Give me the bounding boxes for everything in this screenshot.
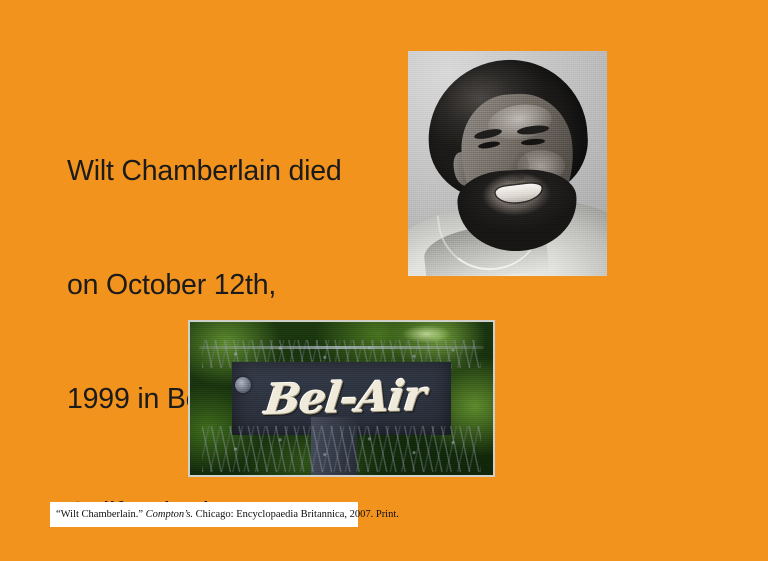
slide-canvas: Wilt Chamberlain died on October 12th, 1… [0,0,768,561]
belair-sign-image: Bel-Air [188,320,495,477]
body-text-line-1: Wilt Chamberlain died [67,152,387,190]
citation-source-italic: Compton’s. [146,509,193,520]
citation-title: “Wilt Chamberlain.” [56,509,143,520]
slide-body-text: Wilt Chamberlain died on October 12th, 1… [67,76,387,561]
belair-sign-lettering: Bel-Air [241,364,449,433]
belair-ironwork-scroll-bottom [202,426,481,472]
wilt-chamberlain-portrait-image [408,51,607,276]
citation-box: “Wilt Chamberlain.” Compton’s. Chicago: … [50,502,358,527]
citation-publication: Chicago: Encyclopaedia Britannica, 2007.… [196,509,399,520]
body-text-line-2: on October 12th, [67,266,387,304]
citation-text: “Wilt Chamberlain.” Compton’s. Chicago: … [56,509,399,521]
